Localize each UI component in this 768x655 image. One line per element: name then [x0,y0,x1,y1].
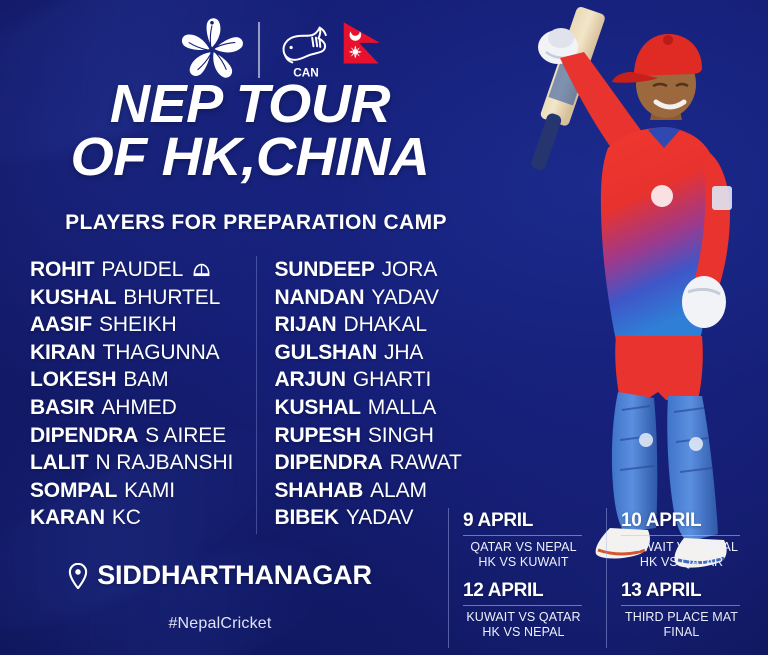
vignette-overlay [0,0,768,655]
tour-announcement-poster: CAN [0,0,768,655]
